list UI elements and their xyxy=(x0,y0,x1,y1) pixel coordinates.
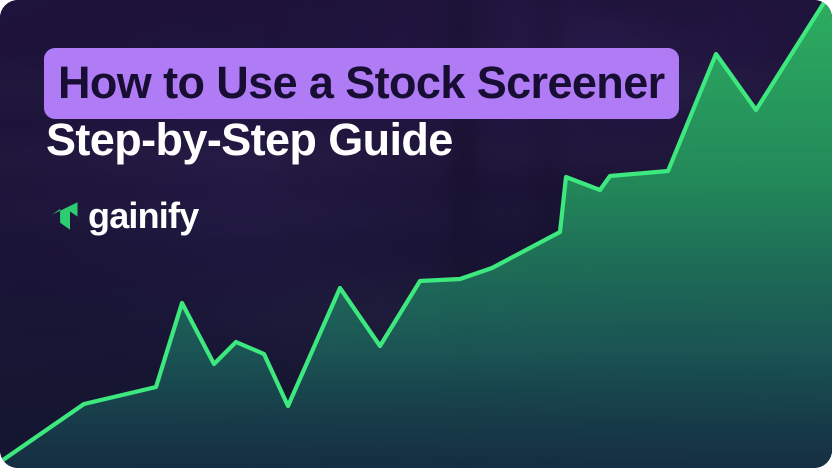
stock-chart-svg xyxy=(0,0,832,468)
video-thumbnail: How to Use a Stock Screener Step-by-Step… xyxy=(0,0,832,468)
stock-chart xyxy=(0,0,832,468)
